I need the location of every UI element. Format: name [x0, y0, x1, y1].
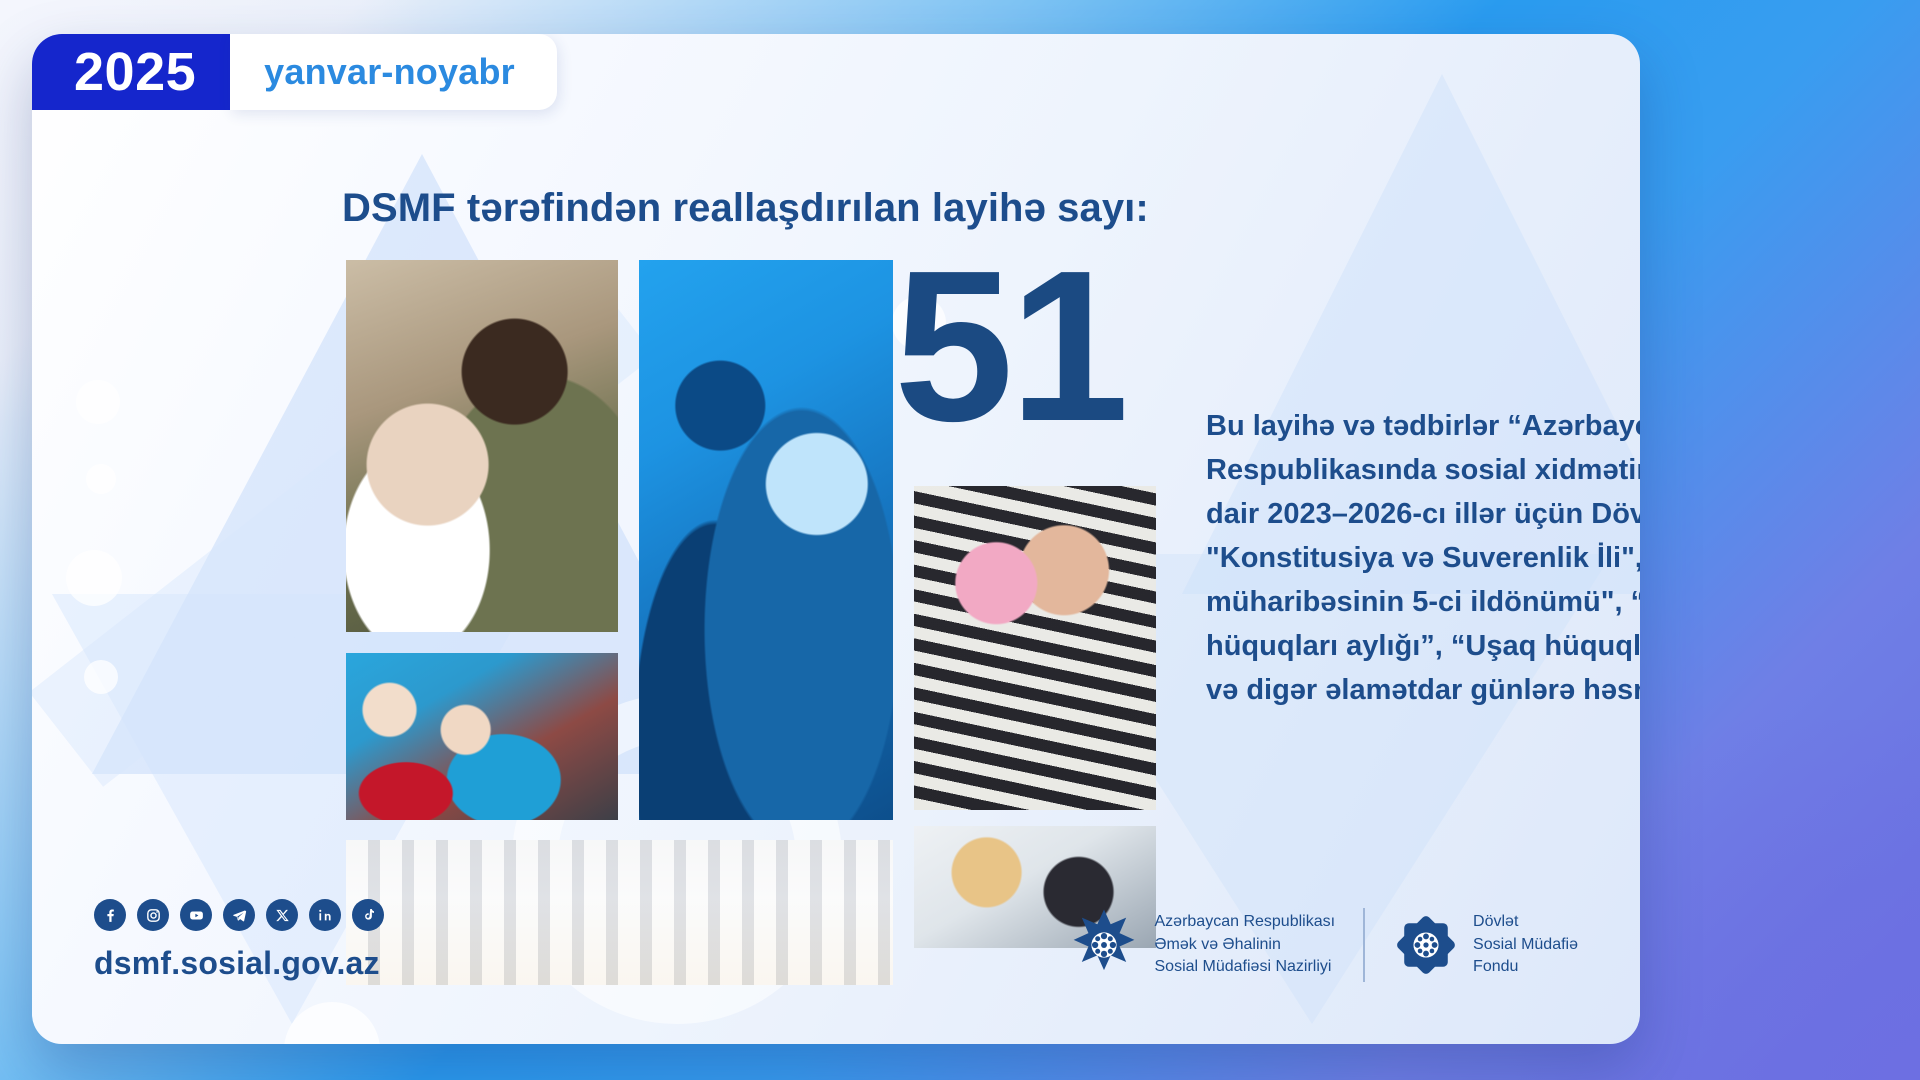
date-bar: 2025 yanvar-noyabr	[32, 34, 557, 110]
watermark-dot	[86, 464, 116, 494]
fund-line-3: Fondu	[1473, 956, 1578, 979]
statistic-value: 51	[894, 256, 1125, 437]
ministry-line-3: Sosial Müdafiəsi Nazirliyi	[1155, 956, 1336, 979]
ministry-line-2: Əmək və Əhalinin	[1155, 934, 1336, 957]
period-badge: yanvar-noyabr	[230, 34, 557, 110]
watermark-dot	[284, 1002, 380, 1044]
watermark-dot	[76, 380, 120, 424]
youtube-icon[interactable]	[180, 899, 212, 931]
fund-line-2: Sosial Müdafiə	[1473, 934, 1578, 957]
watermark-dot	[66, 550, 122, 606]
telegram-icon[interactable]	[223, 899, 255, 931]
instagram-icon[interactable]	[137, 899, 169, 931]
ministry-star-icon	[1067, 908, 1141, 982]
website-url[interactable]: dsmf.sosial.gov.az	[94, 945, 384, 982]
photo-girl-with-pink-hat	[914, 486, 1156, 810]
ministry-logo-group: Azərbaycan Respublikası Əmək və Əhalinin…	[1067, 908, 1336, 982]
photo-eye-examination	[639, 260, 893, 820]
footer-left: dsmf.sosial.gov.az	[94, 899, 384, 982]
linkedin-icon[interactable]	[309, 899, 341, 931]
footer-logos: Azərbaycan Respublikası Əmək və Əhalinin…	[1067, 908, 1579, 982]
infographic-card: 2025 yanvar-noyabr DSMF tərəfindən reall…	[32, 34, 1640, 1044]
watermark-dot	[84, 660, 118, 694]
facebook-icon[interactable]	[94, 899, 126, 931]
fund-logo-group: Dövlət Sosial Müdafiə Fondu	[1393, 911, 1578, 979]
photo-soldier-and-girl	[346, 260, 618, 632]
ministry-line-1: Azərbaycan Respublikası	[1155, 911, 1336, 934]
logo-divider	[1363, 908, 1365, 982]
description-paragraph: Bu layihə və tədbirlər “Azərbaycan Respu…	[1206, 404, 1640, 713]
tiktok-icon[interactable]	[352, 899, 384, 931]
social-links	[94, 899, 384, 931]
photo-children-in-lab-coats	[346, 840, 893, 985]
photo-children-with-flags	[346, 653, 618, 820]
ministry-name: Azərbaycan Respublikası Əmək və Əhalinin…	[1155, 911, 1336, 979]
fund-emblem-icon	[1393, 912, 1459, 978]
year-badge: 2025	[32, 34, 230, 110]
fund-line-1: Dövlət	[1473, 911, 1578, 934]
fund-name: Dövlət Sosial Müdafiə Fondu	[1473, 911, 1578, 979]
x-icon[interactable]	[266, 899, 298, 931]
